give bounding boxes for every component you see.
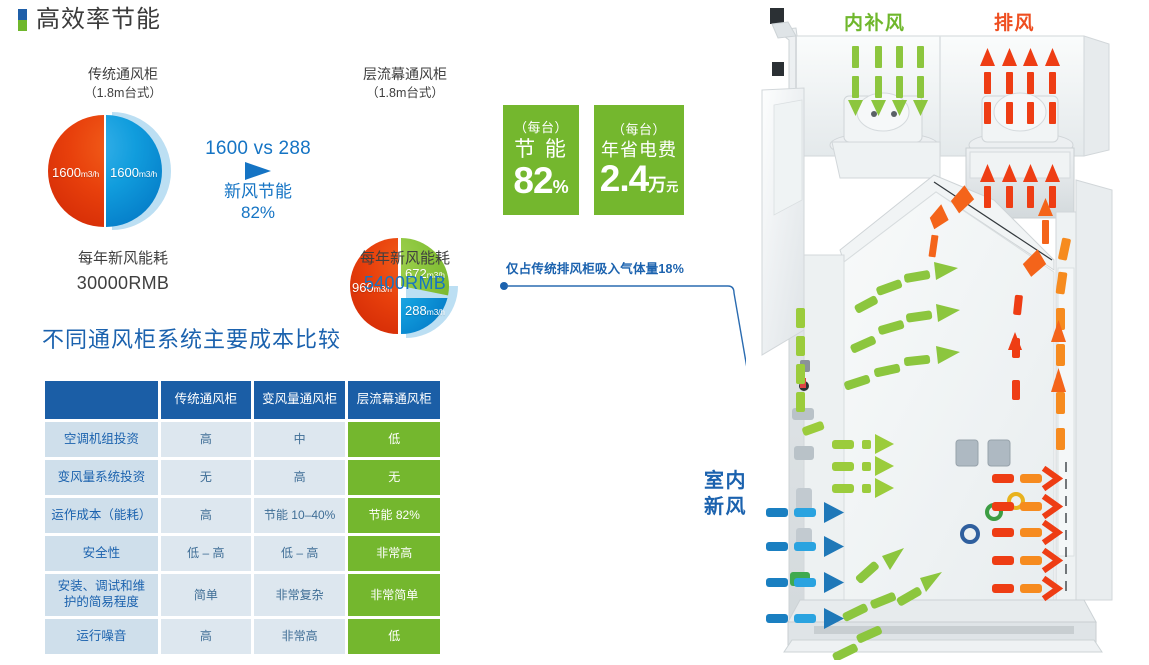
table-row: 变风量系统投资 无 高 无	[45, 460, 440, 495]
table-row-label: 安全性	[45, 536, 158, 571]
table-header-vav: 变风量通风柜	[254, 381, 346, 419]
title-marker-icon	[18, 9, 27, 31]
table-cell: 低 – 高	[254, 536, 346, 571]
table-header-blank	[45, 381, 158, 419]
badge-2-number: 2.4	[600, 158, 648, 199]
pie-right-footer: 每年新风能耗 5400RMB	[320, 248, 490, 296]
badge-2-suffix: 万	[648, 175, 666, 195]
badge-1-suffix: %	[553, 177, 569, 197]
table-row: 空调机组投资 高 中 低	[45, 422, 440, 457]
pie-left-footer-label: 每年新风能耗	[38, 248, 208, 270]
pie-right-footer-label: 每年新风能耗	[320, 248, 490, 270]
fume-hood-drawing	[744, 0, 1149, 660]
cost-comparison-table: 传统通风柜 变风量通风柜 层流幕通风柜 空调机组投资 高 中 低 变风量系统投资…	[42, 378, 443, 657]
table-header-laminar: 层流幕通风柜	[348, 381, 440, 419]
comparison-summary: 1600 vs 288 新风节能 82%	[196, 138, 320, 224]
illustration-label-supply: 内补风	[844, 8, 906, 35]
pie-left-label-2: 1600m3/h	[110, 165, 157, 180]
pie-right-subtitle: （1.8m台式）	[320, 84, 490, 102]
table-cell: 高	[161, 498, 251, 533]
table-row-label: 运行噪音	[45, 619, 158, 654]
callout-text: 仅占传统排风柜吸入气体量18%	[506, 258, 684, 277]
table-cell: 中	[254, 422, 346, 457]
table-cell-highlight: 非常高	[348, 536, 440, 571]
table-cell: 非常高	[254, 619, 346, 654]
illustration-label-exhaust: 排风	[994, 8, 1035, 35]
pie-left-footer: 每年新风能耗 30000RMB	[38, 248, 208, 296]
table-row: 运作成本（能耗） 高 节能 10–40% 节能 82%	[45, 498, 440, 533]
table-cell-highlight: 低	[348, 422, 440, 457]
badge-1-caption: （每台）	[514, 121, 568, 135]
page-title: 高效率节能	[36, 8, 161, 32]
table-row-label: 变风量系统投资	[45, 460, 158, 495]
table-row-label: 空调机组投资	[45, 422, 158, 457]
fume-hood-illustration: 内补风 排风 室内 新风	[744, 0, 1149, 660]
table-cell: 节能 10–40%	[254, 498, 346, 533]
badge-2-middle: 年省电费	[601, 140, 677, 161]
table-cell: 高	[254, 460, 346, 495]
table-cell-highlight: 非常简单	[348, 574, 440, 616]
badge-1-number: 82	[513, 160, 552, 201]
table-row-label: 安装、调试和维 护的简易程度	[45, 574, 158, 616]
table-cell: 无	[161, 460, 251, 495]
table-cell-highlight: 无	[348, 460, 440, 495]
vs-ratio-text: 1600 vs 288	[196, 138, 320, 160]
pie-left-footer-value: 30000RMB	[38, 270, 208, 296]
table-cell-highlight: 低	[348, 619, 440, 654]
table-row: 安装、调试和维 护的简易程度 简单 非常复杂 非常简单	[45, 574, 440, 616]
pie-left-subtitle: （1.8m台式）	[38, 84, 208, 102]
table-row: 安全性 低 – 高 低 – 高 非常高	[45, 536, 440, 571]
arrow-right-icon	[245, 162, 271, 180]
badge-2-value: 2.4万元	[600, 160, 678, 197]
table-cell-highlight: 节能 82%	[348, 498, 440, 533]
badge-1-value: 82%	[513, 162, 568, 199]
badge-energy-saving: （每台） 节 能 82%	[503, 105, 579, 215]
pie-left-heading: 传统通风柜 （1.8m台式）	[38, 64, 208, 102]
table-cell: 高	[161, 422, 251, 457]
pie-right-label-3: 288m3/h	[405, 303, 445, 318]
table-cell: 非常复杂	[254, 574, 346, 616]
table-row: 运行噪音 高 非常高 低	[45, 619, 440, 654]
pie-left-label-1: 1600m3/h	[52, 165, 99, 180]
pie-right-footer-value: 5400RMB	[320, 270, 490, 296]
pie-chart-conventional: 1600m3/h 1600m3/h	[48, 112, 198, 230]
table-cell: 简单	[161, 574, 251, 616]
callout-leader-line	[506, 278, 746, 498]
pie-left-title: 传统通风柜	[38, 64, 208, 84]
table-title: 不同通风柜系统主要成本比较	[42, 322, 341, 354]
badge-annual-savings: （每台） 年省电费 2.4万元	[594, 105, 684, 215]
pie-right-heading: 层流幕通风柜 （1.8m台式）	[320, 64, 490, 102]
vs-sub-line-2: 82%	[196, 202, 320, 223]
table-cell: 高	[161, 619, 251, 654]
table-cell: 低 – 高	[161, 536, 251, 571]
badge-2-suffix2: 元	[666, 180, 678, 194]
table-row-label: 运作成本（能耗）	[45, 498, 158, 533]
pie-right-title: 层流幕通风柜	[320, 64, 490, 84]
badge-2-caption: （每台）	[612, 123, 666, 137]
vs-sub-line-1: 新风节能	[196, 181, 320, 202]
page-header: 高效率节能	[18, 8, 161, 32]
badge-1-middle: 节 能	[514, 138, 568, 162]
table-header-conventional: 传统通风柜	[161, 381, 251, 419]
table-header-row: 传统通风柜 变风量通风柜 层流幕通风柜	[45, 381, 440, 419]
illustration-label-room-air: 室内 新风	[704, 468, 747, 520]
